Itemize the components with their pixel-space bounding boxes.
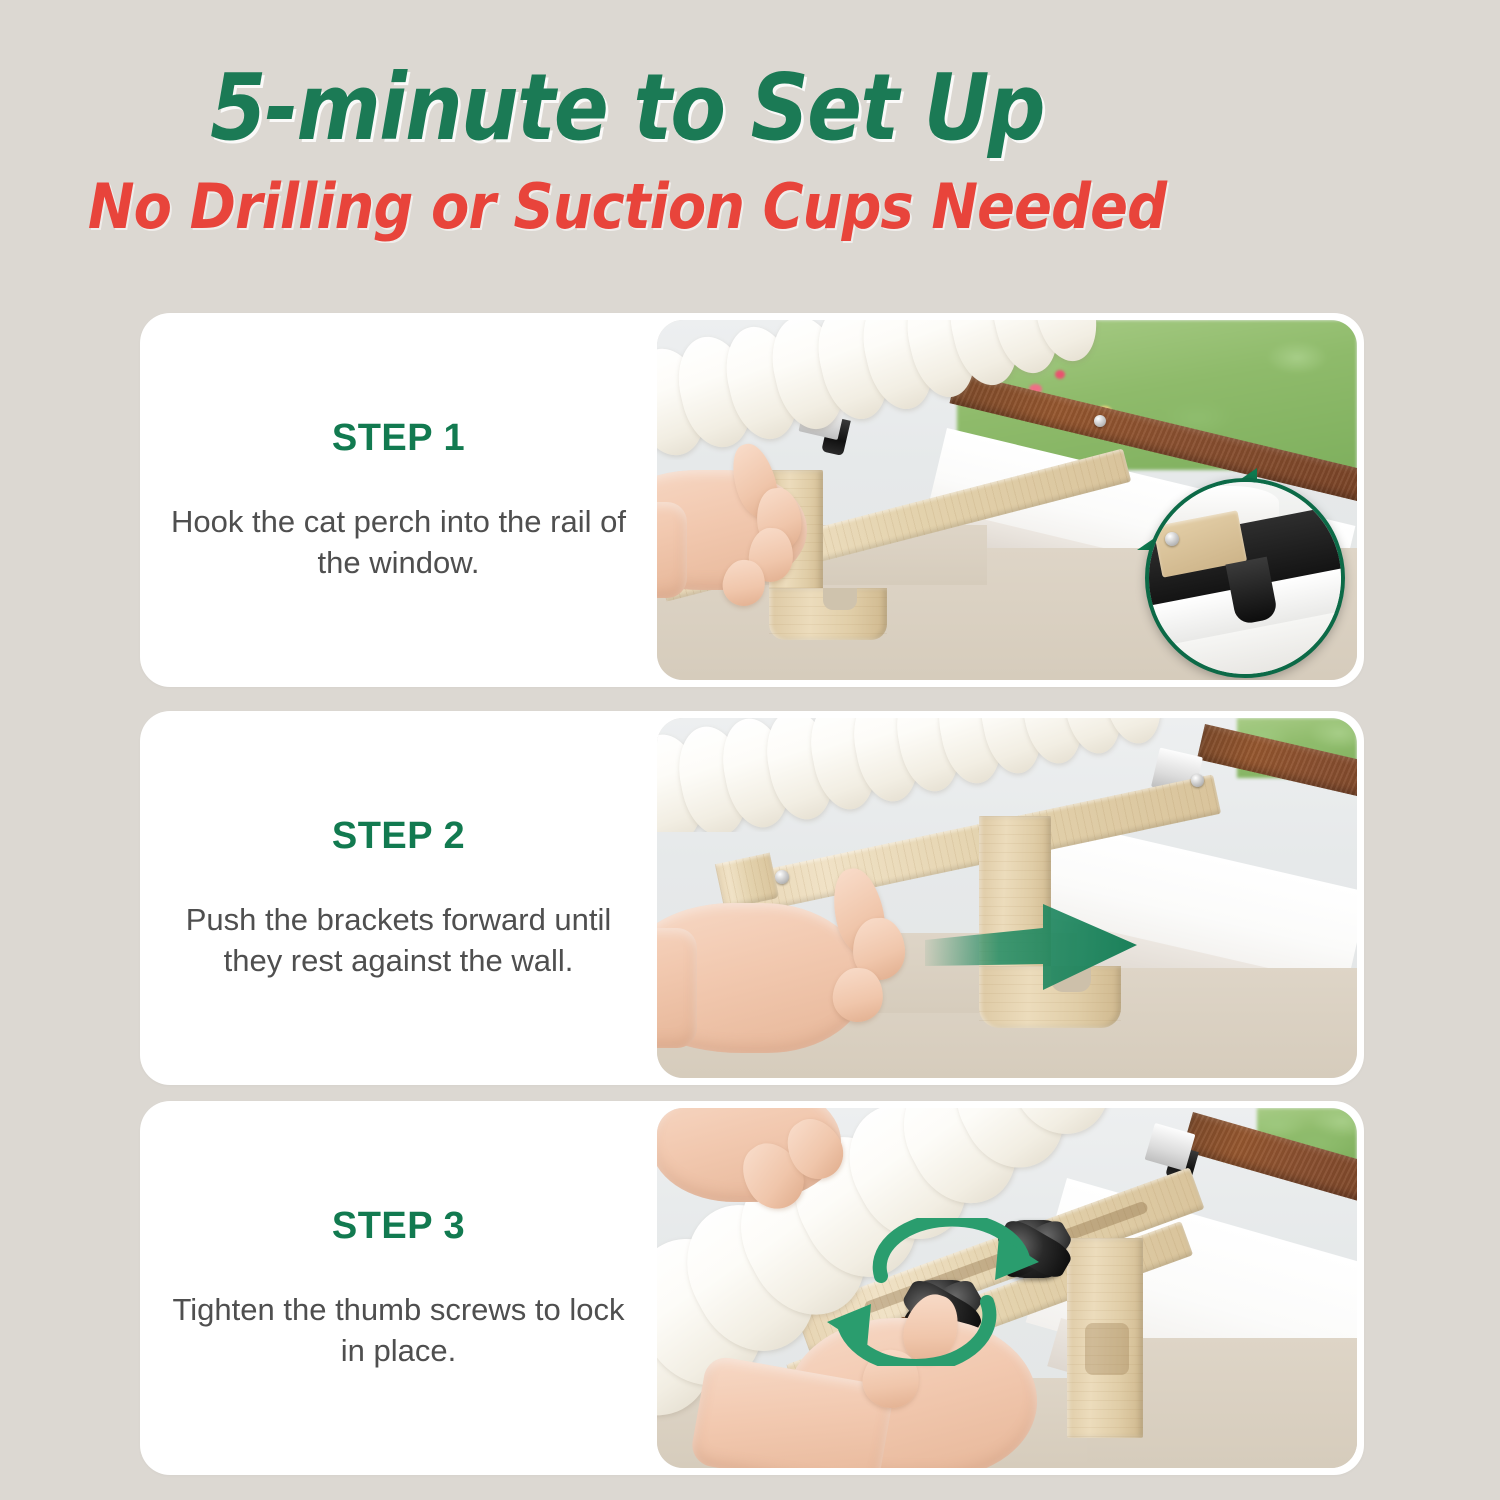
forearm — [657, 502, 687, 598]
step-3-text-block: STEP 3 Tighten the thumb screws to lock … — [140, 1101, 657, 1475]
rotation-arrow-upper — [871, 1218, 1061, 1288]
step-3-description: Tighten the thumb screws to lock in plac… — [164, 1290, 633, 1372]
page-title: 5-minute to Set Up — [75, 62, 1179, 154]
infographic-page: 5-minute to Set Up No Drilling or Suctio… — [0, 0, 1500, 1500]
step-1-description: Hook the cat perch into the rail of the … — [164, 502, 633, 584]
rotate-arrow-icon — [871, 1218, 1061, 1288]
step-2-text-block: STEP 2 Push the brackets forward until t… — [140, 711, 657, 1085]
step-1-label: STEP 1 — [332, 417, 465, 460]
plush-cushion — [657, 320, 1127, 460]
plush-cushion — [657, 718, 1217, 832]
step-2-label: STEP 2 — [332, 815, 465, 858]
inset-screw — [1165, 532, 1179, 546]
page-subtitle: No Drilling or Suction Cups Needed — [63, 176, 1192, 238]
hook-notch — [823, 588, 857, 610]
step-3-label: STEP 3 — [332, 1205, 465, 1248]
step-2-description: Push the brackets forward until they res… — [164, 900, 633, 982]
step-card-1: STEP 1 Hook the cat perch into the rail … — [140, 313, 1364, 687]
forearm — [657, 928, 697, 1048]
forward-arrow — [925, 898, 1145, 998]
step-card-3: STEP 3 Tighten the thumb screws to lock … — [140, 1101, 1364, 1475]
forward-arrow-icon — [925, 898, 1145, 998]
step-3-photo — [657, 1108, 1357, 1468]
screw-left — [775, 870, 789, 884]
header: 5-minute to Set Up No Drilling or Suctio… — [0, 62, 1254, 238]
step-1-photo — [657, 320, 1357, 680]
step-1-text-block: STEP 1 Hook the cat perch into the rail … — [140, 313, 657, 687]
step-card-2: STEP 2 Push the brackets forward until t… — [140, 711, 1364, 1085]
bracket-closeup-inset — [1145, 478, 1345, 678]
rotation-arrow-lower — [809, 1286, 999, 1366]
rotate-arrow-icon — [809, 1286, 999, 1366]
step-2-photo — [657, 718, 1357, 1078]
